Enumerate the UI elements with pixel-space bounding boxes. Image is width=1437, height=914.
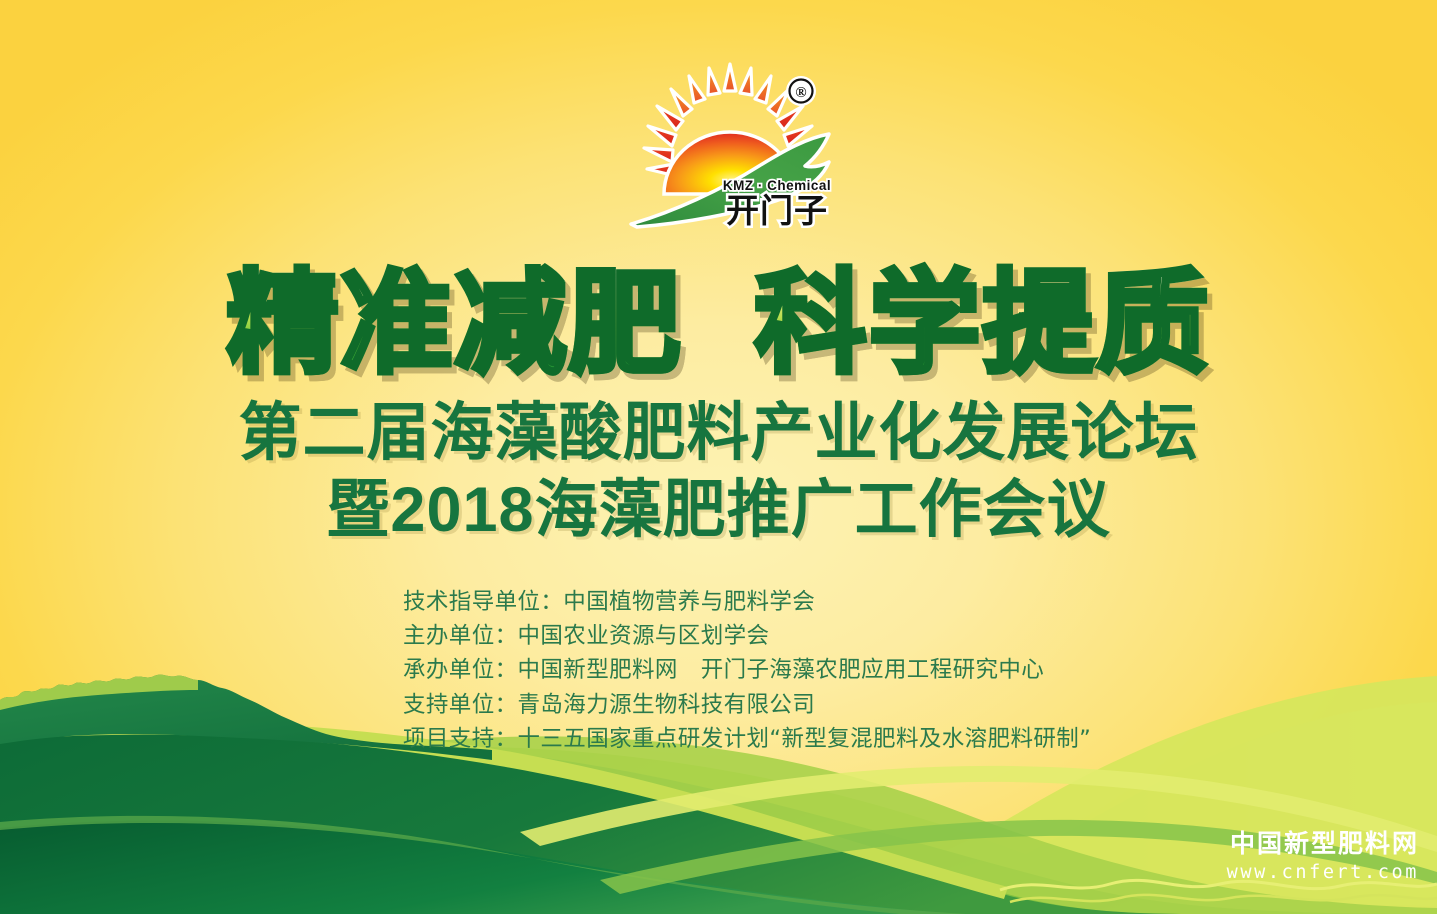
logo-brand-cn: 开门子 [726, 191, 828, 230]
credit-line-supporter: 支持单位：青岛海力源生物科技有限公司 [403, 688, 1303, 722]
poster-canvas: ® KMZ · Chemical 开门子 精准减肥科学提质 第二届海藻酸肥料产业… [0, 0, 1437, 914]
headline-left: 精准减肥 [227, 268, 683, 380]
hill-mid [0, 745, 1437, 914]
credits-block: 技术指导单位：中国植物营养与肥料学会 主办单位：中国农业资源与区划学会 承办单位… [403, 585, 1303, 756]
headline-right: 科学提质 [755, 268, 1211, 380]
subtitle-block: 第二届海藻酸肥料产业化发展论坛 暨2018海藻肥推广工作会议 [0, 398, 1437, 545]
wave-deep-highlight [0, 816, 966, 914]
credit-line-technical-guidance: 技术指导单位：中国植物营养与肥料学会 [403, 585, 1303, 619]
treeline-highlight [0, 675, 198, 710]
subtitle-line-2: 暨2018海藻肥推广工作会议 [0, 475, 1437, 546]
credit-line-project-support: 项目支持：十三五国家重点研发计划“新型复混肥料及水溶肥料研制” [403, 722, 1303, 756]
subtitle-line-1: 第二届海藻酸肥料产业化发展论坛 [0, 398, 1437, 469]
squiggle-line-2 [1010, 895, 1437, 902]
watermark-url: www.cnfert.com [1227, 861, 1419, 884]
credit-line-organizer: 主办单位：中国农业资源与区划学会 [403, 619, 1303, 653]
credit-line-co-organizer: 承办单位：中国新型肥料网 开门子海藻农肥应用工程研究中心 [403, 653, 1303, 687]
hill-mid-highlight [0, 736, 1437, 914]
hill-light-sweep [0, 747, 1437, 914]
company-logo: ® KMZ · Chemical 开门子 [617, 62, 847, 247]
headline-row: 精准减肥科学提质 [0, 268, 1437, 380]
watermark: 中国新型肥料网 www.cnfert.com [1227, 830, 1419, 884]
registered-trademark-icon: ® [786, 76, 816, 106]
trademark-glyph: ® [795, 85, 806, 101]
wave-deep [0, 820, 960, 914]
watermark-site-name: 中国新型肥料网 [1227, 830, 1419, 859]
